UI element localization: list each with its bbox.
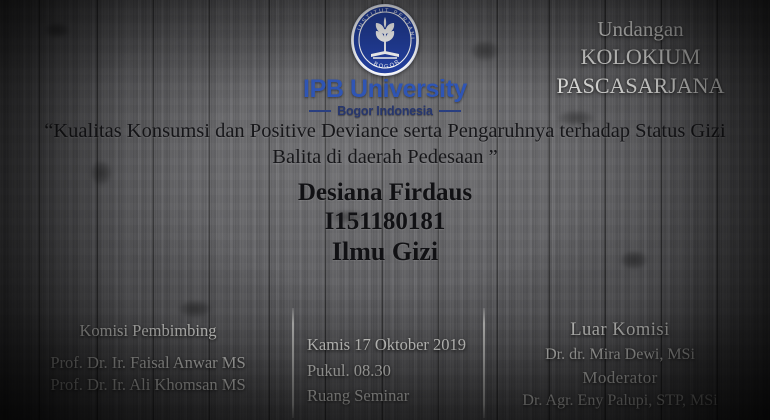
ipb-subtitle: Bogor Indonesia xyxy=(337,104,433,118)
supervisor-2: Prof. Dr. Ir. Ali Khomsan MS xyxy=(14,374,282,395)
schedule-venue: Ruang Seminar xyxy=(307,383,487,409)
ipb-seal-icon: INSTITUT PERTANIAN BOGOR xyxy=(351,4,419,76)
invitation-heading: Undangan KOLOKIUM PASCASARJANA xyxy=(533,16,748,100)
external-examiner: Dr. dr. Mira Dewi, MSi xyxy=(480,344,760,366)
column-divider-right xyxy=(483,308,485,418)
presenter-block: Desiana Firdaus I151180181 Ilmu Gizi xyxy=(0,178,770,267)
presenter-student-id: I151180181 xyxy=(0,207,770,236)
moderator-name: Dr. Agr. Eny Palupi, STP, MSi xyxy=(480,390,760,412)
presenter-program: Ilmu Gizi xyxy=(0,237,770,267)
invitation-line-2: KOLOKIUM xyxy=(533,43,748,72)
research-title: “Kualitas Konsumsi dan Positive Deviance… xyxy=(40,118,730,170)
schedule-time: Pukul. 08.30 xyxy=(307,358,487,384)
external-committee-column: Luar Komisi Dr. dr. Mira Dewi, MSi Moder… xyxy=(480,318,760,412)
colloquium-invitation-poster: INSTITUT PERTANIAN BOGOR IPB University … xyxy=(0,0,770,420)
schedule-column: Kamis 17 Oktober 2019 Pukul. 08.30 Ruang… xyxy=(307,332,487,409)
column-divider-left xyxy=(292,308,294,418)
supervisor-1: Prof. Dr. Ir. Faisal Anwar MS xyxy=(14,352,282,373)
moderator-label: Moderator xyxy=(480,366,760,390)
invitation-line-3: PASCASARJANA xyxy=(533,72,748,101)
external-heading: Luar Komisi xyxy=(480,318,760,344)
ipb-subtitle-row: Bogor Indonesia xyxy=(309,104,461,118)
rule-right-icon xyxy=(439,110,461,112)
schedule-date: Kamis 17 Oktober 2019 xyxy=(307,332,487,358)
supervisors-column: Komisi Pembimbing Prof. Dr. Ir. Faisal A… xyxy=(14,320,282,395)
rule-left-icon xyxy=(309,110,331,112)
invitation-line-1: Undangan xyxy=(533,16,748,43)
ipb-university-wordmark: IPB University xyxy=(303,77,467,102)
presenter-name: Desiana Firdaus xyxy=(0,178,770,207)
footer-info: Komisi Pembimbing Prof. Dr. Ir. Faisal A… xyxy=(0,312,770,420)
supervisors-heading: Komisi Pembimbing xyxy=(14,320,282,341)
